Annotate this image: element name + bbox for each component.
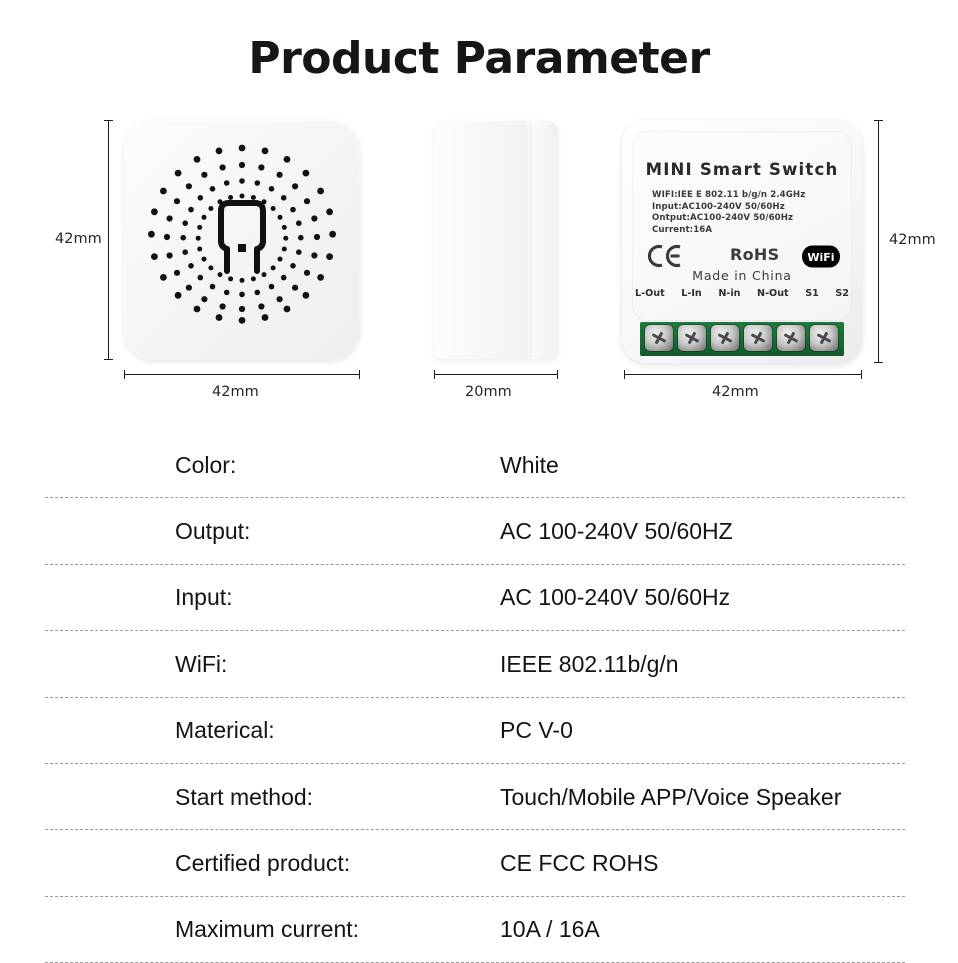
- dimension-label-front-width: 42mm: [212, 384, 259, 400]
- spec-value-start-method: Touch/Mobile APP/Voice Speaker: [500, 784, 841, 811]
- terminal-label-n-in: N-in: [718, 288, 740, 299]
- product-figure-group: MINI Smart Switch WIFI:IEE E 802.11 b/g/…: [0, 110, 958, 410]
- screw-terminal: [645, 325, 673, 351]
- dimension-line-unit-height: [878, 120, 879, 363]
- rohs-mark-label: RoHS: [730, 245, 779, 264]
- spec-label-output: Output:: [175, 518, 250, 545]
- table-row: Input: AC 100-240V 50/60Hz: [0, 565, 958, 631]
- screw-terminal: [678, 325, 706, 351]
- terminal-label-l-out: L-Out: [635, 288, 665, 299]
- screw-terminal: [711, 325, 739, 351]
- spec-label-materical: Materical:: [175, 717, 275, 744]
- dimension-label-side-width: 20mm: [465, 384, 512, 400]
- spec-value-output: AC 100-240V 50/60HZ: [500, 518, 733, 545]
- spec-label-wifi: WiFi:: [175, 651, 227, 678]
- dimension-label-front-height: 42mm: [55, 231, 102, 247]
- table-row: Materical: PC V-0: [0, 698, 958, 764]
- dimension-line-front-width: [124, 374, 360, 375]
- plug-outline-icon: [211, 197, 273, 283]
- table-row: Maximum current: 10A / 16A: [0, 897, 958, 963]
- terminal-label-l-in: L-In: [681, 288, 702, 299]
- side-seam-line: [531, 123, 532, 357]
- spec-value-materical: PC V-0: [500, 717, 573, 744]
- spec-label-maximum-current: Maximum current:: [175, 916, 359, 943]
- table-row: Color: White: [0, 432, 958, 498]
- spec-value-wifi: IEEE 802.11b/g/n: [500, 651, 679, 678]
- dimension-label-unit-width: 42mm: [712, 384, 759, 400]
- device-spec-lines: WIFI:IEE E 802.11 b/g/n 2.4GHz Input:AC1…: [652, 190, 805, 236]
- screw-terminal: [777, 325, 805, 351]
- spec-label-certified-product: Certified product:: [175, 850, 350, 877]
- product-image-labeled-switch: MINI Smart Switch WIFI:IEE E 802.11 b/g/…: [622, 120, 862, 363]
- screw-terminal: [810, 325, 838, 351]
- spec-value-color: White: [500, 452, 559, 479]
- dimension-label-unit-height: 42mm: [889, 232, 936, 248]
- device-spec-line-output: Ontput:AC100-240V 50/60Hz: [652, 213, 805, 225]
- dimension-line-side-width: [434, 374, 558, 375]
- device-spec-line-input: Input:AC100-240V 50/60Hz: [652, 202, 805, 214]
- spec-value-input: AC 100-240V 50/60Hz: [500, 584, 730, 611]
- device-product-name: MINI Smart Switch: [622, 160, 862, 179]
- terminal-label-row: L-Out L-In N-in N-Out S1 S2: [635, 288, 849, 299]
- screw-terminal-block: [640, 322, 844, 356]
- table-row: WiFi: IEEE 802.11b/g/n: [0, 631, 958, 697]
- product-parameter-table: Color: White Output: AC 100-240V 50/60HZ…: [0, 432, 958, 963]
- wifi-mark-icon: WiFi: [802, 244, 840, 269]
- table-row: Certified product: CE FCC ROHS: [0, 830, 958, 896]
- spec-value-certified-product: CE FCC ROHS: [500, 850, 658, 877]
- terminal-label-n-out: N-Out: [757, 288, 789, 299]
- ce-mark-icon: [648, 244, 682, 268]
- device-spec-line-current: Current:16A: [652, 225, 805, 237]
- svg-text:WiFi: WiFi: [807, 251, 834, 264]
- product-image-front-panel: [124, 120, 360, 360]
- dimension-line-unit-width: [624, 374, 862, 375]
- page-title: Product Parameter: [0, 33, 958, 84]
- spec-label-color: Color:: [175, 452, 236, 479]
- terminal-label-s2: S2: [835, 288, 849, 299]
- product-image-side-view: [434, 121, 558, 359]
- made-in-label: Made in China: [622, 268, 862, 283]
- spec-label-input: Input:: [175, 584, 233, 611]
- table-row: Start method: Touch/Mobile APP/Voice Spe…: [0, 764, 958, 830]
- screw-terminal: [744, 325, 772, 351]
- device-spec-line-wifi: WIFI:IEE E 802.11 b/g/n 2.4GHz: [652, 190, 805, 202]
- spec-value-maximum-current: 10A / 16A: [500, 916, 600, 943]
- table-row: Output: AC 100-240V 50/60HZ: [0, 498, 958, 564]
- spec-label-start-method: Start method:: [175, 784, 313, 811]
- dimension-line-front-height: [108, 120, 109, 360]
- terminal-label-s1: S1: [805, 288, 819, 299]
